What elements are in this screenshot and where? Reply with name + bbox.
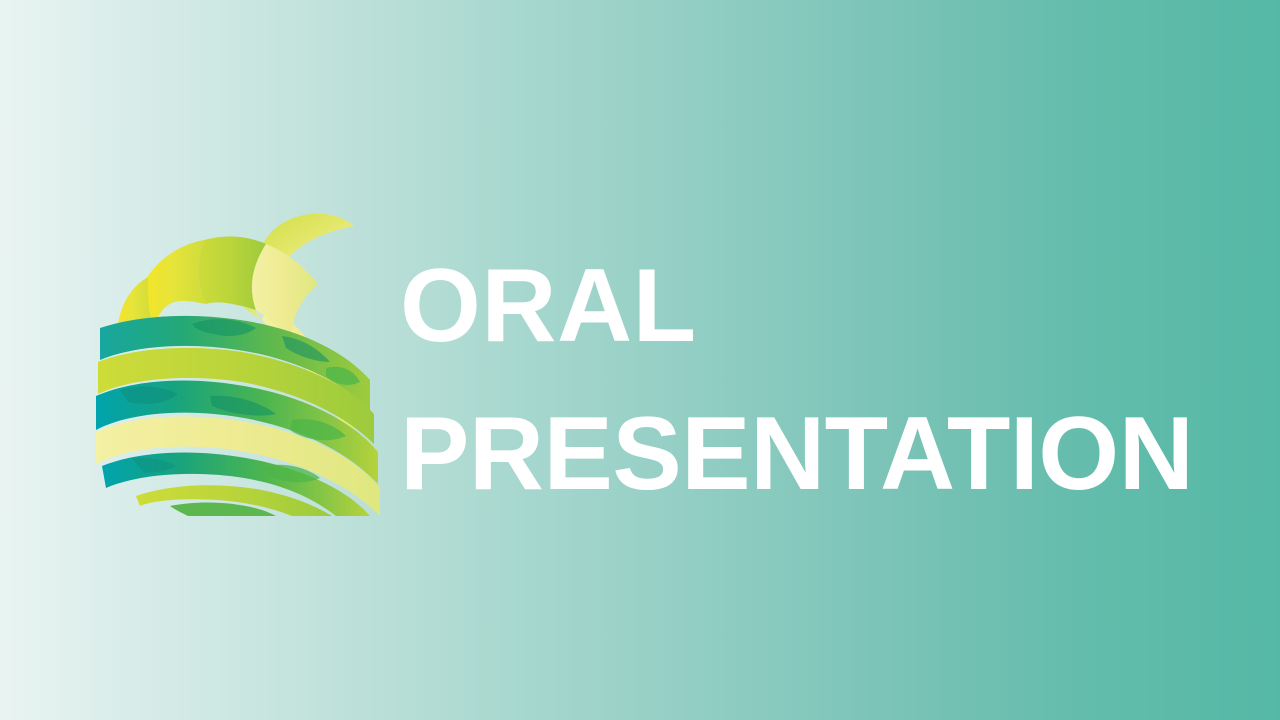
presentation-slide: ORAL PRESENTATION [0, 0, 1280, 720]
globe-leaf-logo [96, 204, 384, 516]
slide-title: ORAL PRESENTATION [400, 232, 1220, 528]
title-line-1: ORAL [400, 232, 1220, 380]
title-line-2: PRESENTATION [400, 380, 1220, 528]
